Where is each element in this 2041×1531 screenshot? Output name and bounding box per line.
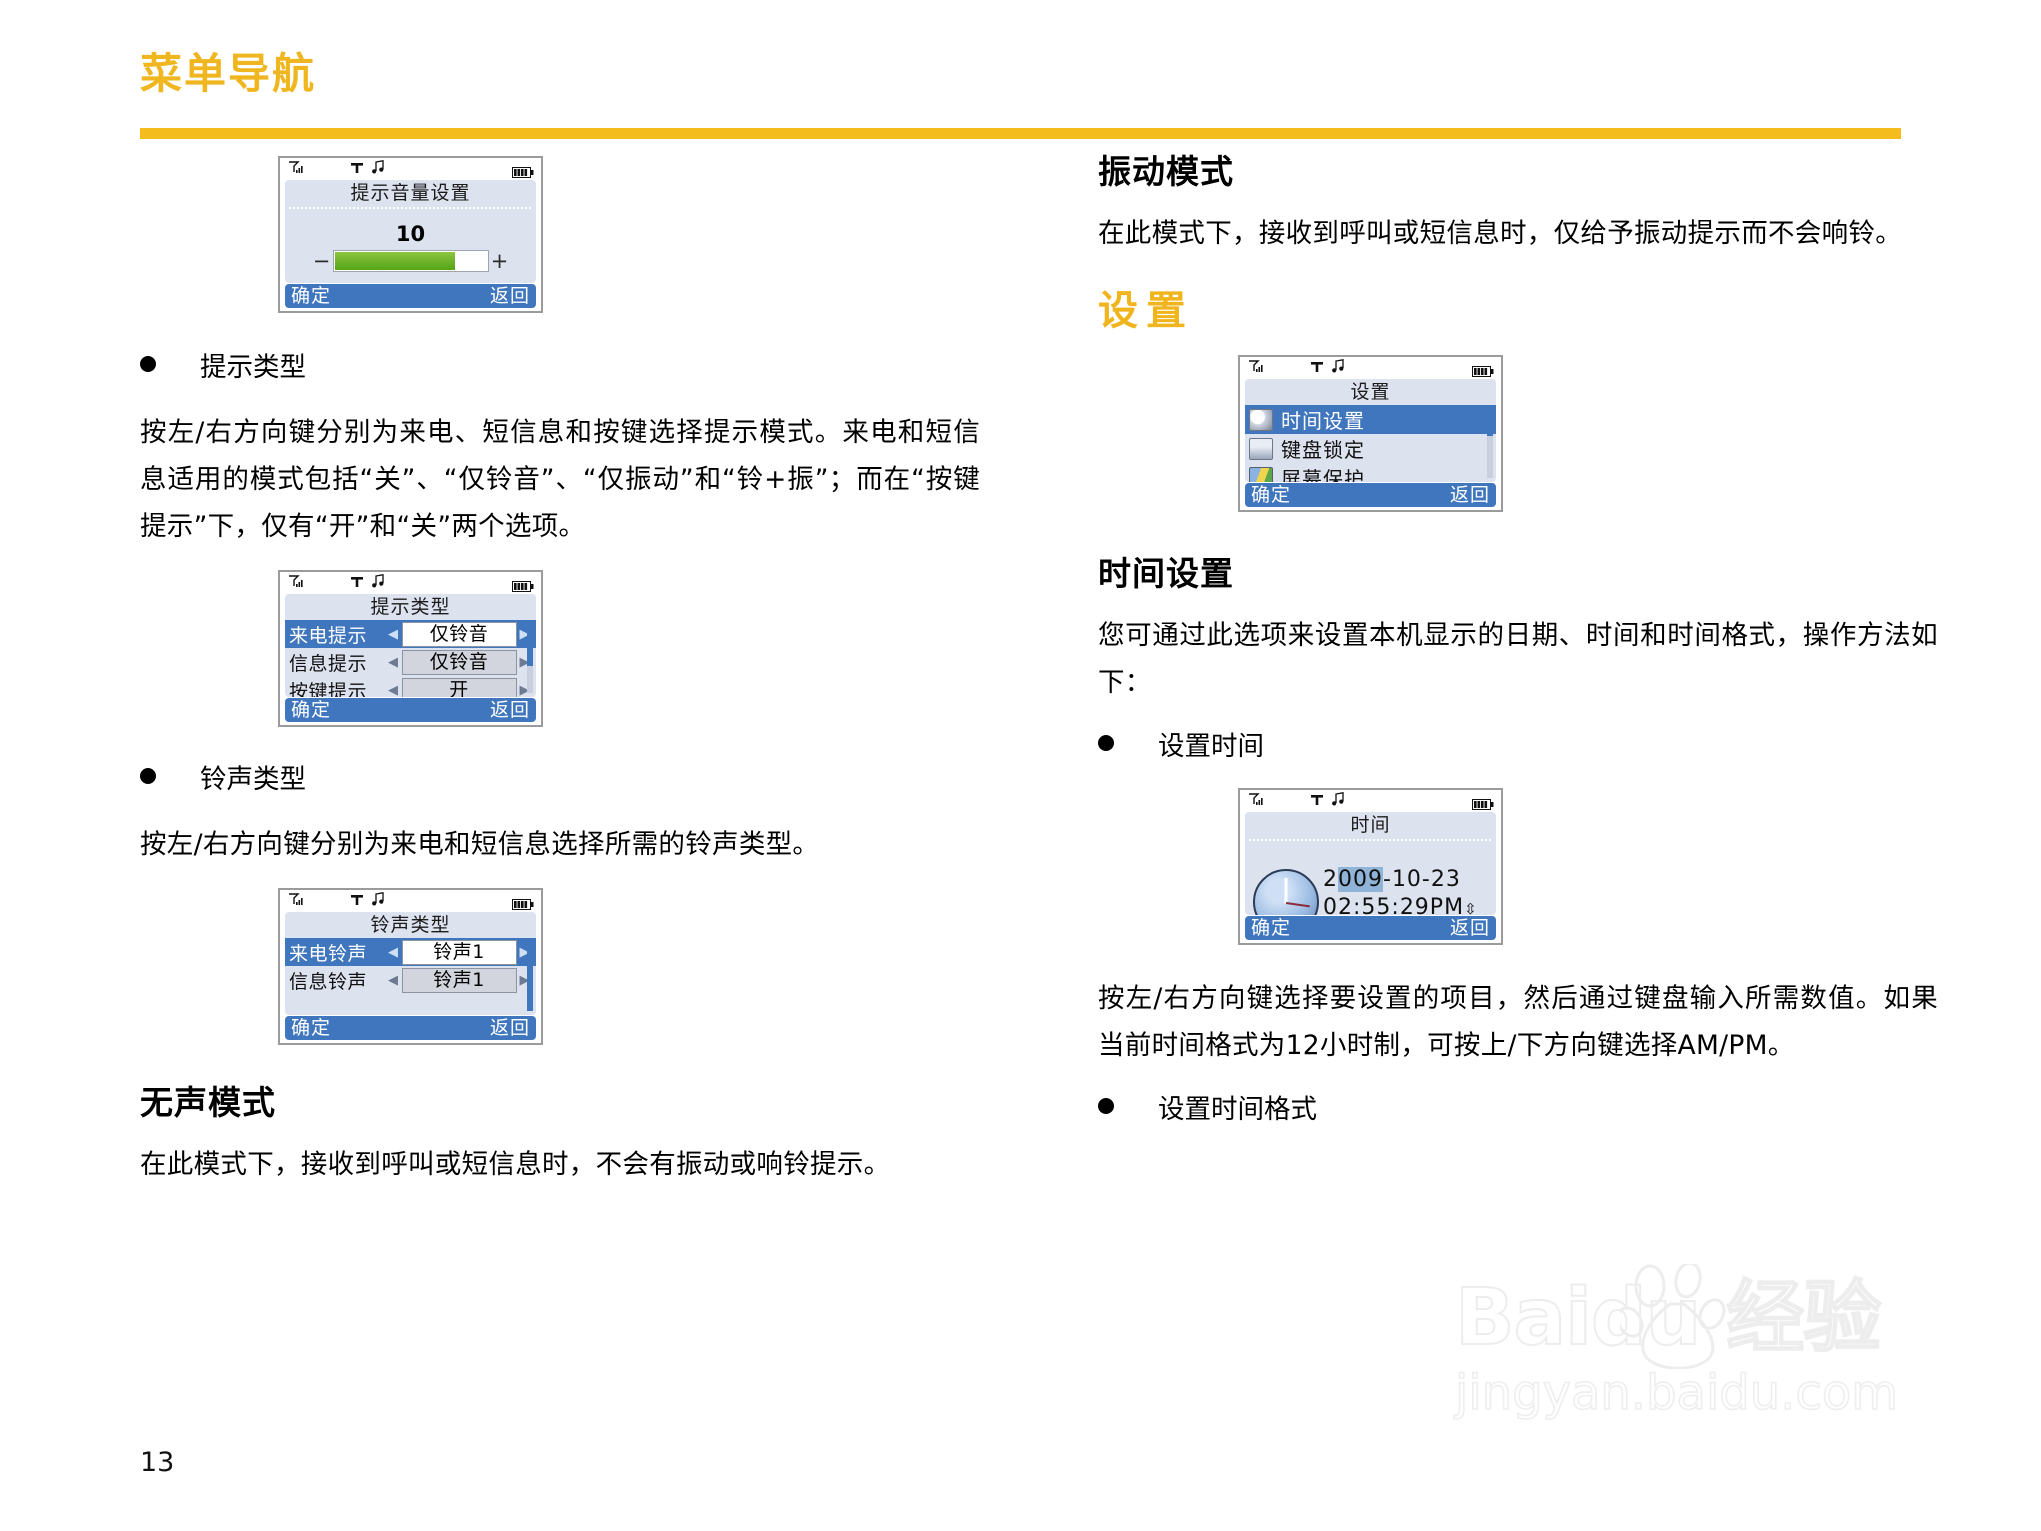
phone-content: 时间 2009-10-23 02:55:29PM⇳ 星期五 xyxy=(1245,812,1496,915)
menu-item-label: 键盘锁定 xyxy=(1281,434,1365,463)
volume-slider-row[interactable]: − + xyxy=(285,249,536,273)
bullet-ring-type: 铃声类型 xyxy=(140,759,980,801)
option-row[interactable]: 来电铃声 ◀ 铃声1 ▶ xyxy=(285,938,536,966)
header-divider xyxy=(140,128,1901,139)
phone-screen-ring-type: 铃声类型 来电铃声 ◀ 铃声1 ▶ 信息铃声 ◀ 铃声1 ▶ 确定 xyxy=(278,888,543,1045)
menu-item-time-settings[interactable]: 时间设置 xyxy=(1245,405,1496,434)
option-value: 仅铃音 xyxy=(402,622,517,647)
page-title: 菜单导航 xyxy=(140,48,1900,100)
para-silent-mode: 在此模式下，接收到呼叫或短信息时，不会有振动或响铃提示。 xyxy=(140,1141,980,1188)
scrollbar[interactable] xyxy=(1487,406,1493,478)
bullet-alert-type: 提示类型 xyxy=(140,347,980,389)
phone-content: 提示类型 来电提示 ◀ 仅铃音 ▶ 信息提示 ◀ 仅铃音 ▶ 按键提示 ◀ 开 xyxy=(285,594,536,697)
volume-increase-button[interactable]: + xyxy=(489,249,511,273)
option-row[interactable]: 信息提示 ◀ 仅铃音 ▶ xyxy=(285,648,536,676)
volume-decrease-button[interactable]: − xyxy=(311,249,333,273)
scrollbar[interactable] xyxy=(527,621,533,693)
bullet-set-time-format: 设置时间格式 xyxy=(1098,1089,1938,1131)
phone-softkey-bar: 确定 返回 xyxy=(285,284,536,308)
softkey-confirm[interactable]: 确定 xyxy=(291,284,331,308)
music-note-icon xyxy=(1331,792,1345,811)
phone-softkey-bar: 确定 返回 xyxy=(1245,916,1496,940)
phone-screen-time: 时间 2009-10-23 02:55:29PM⇳ 星期五 确定 返回 xyxy=(1238,788,1503,945)
phone-statusbar xyxy=(280,890,541,912)
option-label: 来电铃声 xyxy=(289,939,385,966)
chevron-left-icon[interactable]: ◀ xyxy=(385,945,402,960)
scrollbar-thumb[interactable] xyxy=(527,621,533,666)
phone-content: 铃声类型 来电铃声 ◀ 铃声1 ▶ 信息铃声 ◀ 铃声1 ▶ xyxy=(285,912,536,1015)
volume-value: 10 xyxy=(285,221,536,247)
phone-statusbar xyxy=(280,158,541,180)
heading-silent-mode: 无声模式 xyxy=(140,1081,980,1125)
heading-vibrate-mode: 振动模式 xyxy=(1098,150,1938,194)
softkey-confirm[interactable]: 确定 xyxy=(1251,483,1291,507)
keypad-lock-icon xyxy=(1249,438,1273,460)
option-row[interactable]: 按键提示 ◀ 开 ▶ xyxy=(285,676,536,697)
option-label: 信息提示 xyxy=(289,649,385,676)
signal-bars-icon xyxy=(1248,792,1264,811)
para-alert-type: 按左/右方向键分别为来电、短信息和按键选择提示模式。来电和短信息适用的模式包括“… xyxy=(140,409,980,550)
bullet-dot-icon xyxy=(1098,735,1114,751)
phone-statusbar xyxy=(1240,790,1501,812)
chevron-left-icon[interactable]: ◀ xyxy=(385,655,402,670)
scrollbar[interactable] xyxy=(527,939,533,1011)
clock-icon xyxy=(1249,409,1273,431)
phone-screen-volume: 提示音量设置 10 − + 确定 返回 xyxy=(278,156,543,313)
updown-spinner-icon[interactable]: ⇳ xyxy=(1464,900,1478,915)
clock-values: 2009-10-23 02:55:29PM⇳ 星期五 xyxy=(1323,866,1488,915)
music-note-icon xyxy=(1331,359,1345,378)
title-separator xyxy=(289,207,532,209)
softkey-back[interactable]: 返回 xyxy=(1450,916,1490,940)
date-value[interactable]: 2009-10-23 xyxy=(1323,866,1488,894)
phone-title: 提示类型 xyxy=(285,594,536,620)
menu-item-label: 时间设置 xyxy=(1281,405,1365,434)
bullet-dot-icon xyxy=(140,356,156,372)
option-label: 按键提示 xyxy=(289,677,385,698)
softkey-back[interactable]: 返回 xyxy=(490,1016,530,1040)
phone-content: 提示音量设置 10 − + xyxy=(285,180,536,283)
softkey-confirm[interactable]: 确定 xyxy=(1251,916,1291,940)
bullet-set-time-format-label: 设置时间格式 xyxy=(1158,1089,1317,1131)
phone-softkey-bar: 确定 返回 xyxy=(285,698,536,722)
date-suffix: -10-23 xyxy=(1383,867,1461,892)
music-note-icon xyxy=(371,892,385,911)
option-label: 信息铃声 xyxy=(289,967,385,994)
right-column: 振动模式 在此模式下，接收到呼叫或短信息时，仅给予振动提示而不会响铃。 设置 xyxy=(1098,150,1938,1151)
time-value: 02:55:29PM xyxy=(1323,895,1464,915)
network-t-icon xyxy=(1310,359,1324,378)
screensaver-icon xyxy=(1249,467,1273,483)
network-t-icon xyxy=(1310,792,1324,811)
phone-title: 铃声类型 xyxy=(285,912,536,938)
option-label: 来电提示 xyxy=(289,621,385,648)
chevron-left-icon[interactable]: ◀ xyxy=(385,973,402,988)
phone-softkey-bar: 确定 返回 xyxy=(1245,483,1496,507)
menu-item-keypad-lock[interactable]: 键盘锁定 xyxy=(1245,434,1496,463)
date-highlight: 009 xyxy=(1338,867,1383,892)
date-prefix: 2 xyxy=(1323,867,1338,892)
left-column: 提示音量设置 10 − + 确定 返回 提示类型 按左/右方向键分别为 xyxy=(140,150,980,1208)
phone-screen-settings-menu: 设置 时间设置 键盘锁定 屏幕保护 确定 返回 xyxy=(1238,355,1503,512)
signal-bars-icon xyxy=(288,574,304,593)
signal-bars-icon xyxy=(288,892,304,911)
heading-time-settings: 时间设置 xyxy=(1098,552,1938,596)
phone-softkey-bar: 确定 返回 xyxy=(285,1016,536,1040)
signal-bars-icon xyxy=(288,160,304,179)
para-vibrate-mode: 在此模式下，接收到呼叫或短信息时，仅给予振动提示而不会响铃。 xyxy=(1098,210,1938,257)
option-value: 铃声1 xyxy=(402,968,517,993)
network-t-icon xyxy=(350,160,364,179)
para-time-settings: 您可通过此选项来设置本机显示的日期、时间和时间格式，操作方法如下： xyxy=(1098,612,1938,706)
bullet-dot-icon xyxy=(1098,1098,1114,1114)
music-note-icon xyxy=(371,574,385,593)
option-value: 铃声1 xyxy=(402,940,517,965)
softkey-back[interactable]: 返回 xyxy=(490,284,530,308)
heading-settings: 设置 xyxy=(1098,289,1938,333)
option-value: 开 xyxy=(402,678,517,698)
bullet-alert-type-label: 提示类型 xyxy=(200,347,306,389)
signal-bars-icon xyxy=(1248,359,1264,378)
scrollbar-thumb[interactable] xyxy=(1487,406,1493,436)
phone-statusbar xyxy=(1240,357,1501,379)
bullet-dot-icon xyxy=(140,768,156,784)
chevron-left-icon[interactable]: ◀ xyxy=(385,627,402,642)
clock-area: 2009-10-23 02:55:29PM⇳ 星期五 xyxy=(1245,841,1496,915)
phone-title: 提示音量设置 xyxy=(285,180,536,206)
bullet-ring-type-label: 铃声类型 xyxy=(200,759,306,801)
baidu-jingyan-watermark: Baidu 经验 jingyan.baidu.com xyxy=(1455,1272,1975,1457)
phone-title: 设置 xyxy=(1245,379,1496,405)
softkey-confirm[interactable]: 确定 xyxy=(291,698,331,722)
time-value-row[interactable]: 02:55:29PM⇳ xyxy=(1323,894,1488,915)
phone-screen-alert-type: 提示类型 来电提示 ◀ 仅铃音 ▶ 信息提示 ◀ 仅铃音 ▶ 按键提示 ◀ 开 xyxy=(278,570,543,727)
option-row[interactable]: 信息铃声 ◀ 铃声1 ▶ xyxy=(285,966,536,994)
page-number: 13 xyxy=(140,1447,174,1478)
para-ring-type: 按左/右方向键分别为来电和短信息选择所需的铃声类型。 xyxy=(140,821,980,868)
phone-statusbar xyxy=(280,572,541,594)
music-note-icon xyxy=(371,160,385,179)
scrollbar-thumb[interactable] xyxy=(527,939,533,1011)
menu-item-screensaver[interactable]: 屏幕保护 xyxy=(1245,463,1496,482)
clock-minute-hand xyxy=(1285,878,1288,904)
option-value: 仅铃音 xyxy=(402,650,517,675)
network-t-icon xyxy=(350,574,364,593)
softkey-confirm[interactable]: 确定 xyxy=(291,1016,331,1040)
network-t-icon xyxy=(350,892,364,911)
baidu-paw-icon xyxy=(1620,1264,1740,1369)
option-row[interactable]: 来电提示 ◀ 仅铃音 ▶ xyxy=(285,620,536,648)
watermark-url: jingyan.baidu.com xyxy=(1455,1364,1975,1422)
softkey-back[interactable]: 返回 xyxy=(490,698,530,722)
clock-hour-hand xyxy=(1286,902,1310,907)
volume-slider-fill xyxy=(335,252,455,270)
page-header: 菜单导航 xyxy=(140,48,1900,100)
volume-slider-track[interactable] xyxy=(333,250,489,272)
para-set-time: 按左/右方向键选择要设置的项目，然后通过键盘输入所需数值。如果当前时间格式为12… xyxy=(1098,975,1938,1069)
bullet-set-time: 设置时间 xyxy=(1098,726,1938,768)
analog-clock-icon xyxy=(1253,869,1319,915)
softkey-back[interactable]: 返回 xyxy=(1450,483,1490,507)
chevron-left-icon[interactable]: ◀ xyxy=(385,683,402,698)
bullet-set-time-label: 设置时间 xyxy=(1158,726,1264,768)
phone-title: 时间 xyxy=(1245,812,1496,838)
watermark-brand: Baidu 经验 xyxy=(1455,1272,1975,1364)
phone-content: 设置 时间设置 键盘锁定 屏幕保护 xyxy=(1245,379,1496,482)
menu-item-label: 屏幕保护 xyxy=(1281,463,1365,482)
